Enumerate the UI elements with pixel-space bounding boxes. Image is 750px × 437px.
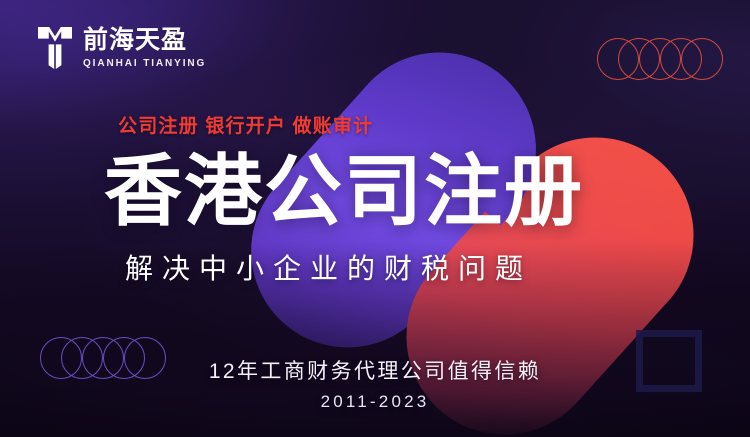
brand-logo: 前海天盈 QIANHAI TIANYING [38, 27, 206, 69]
hero-headline: 香港公司注册 [104, 152, 584, 230]
banner-canvas: 前海天盈 QIANHAI TIANYING 公司注册 银行开户 做账审计 香港公… [0, 0, 750, 437]
brand-name-cn: 前海天盈 [83, 27, 206, 53]
brand-name-en: QIANHAI TIANYING [83, 58, 206, 69]
hero-years: 2011-2023 [0, 392, 750, 412]
hero-kicker: 公司注册 银行开户 做账审计 [118, 111, 373, 138]
hero-subhead: 解决中小企业的财税问题 [125, 247, 532, 287]
hero-tagline: 12年工商财务代理公司值得信赖 [0, 355, 750, 385]
circle-outline [681, 38, 723, 80]
qianhai-tianying-y-mark-icon [38, 27, 72, 69]
brand-logo-text: 前海天盈 QIANHAI TIANYING [83, 27, 206, 68]
overlapping-circles-red-icon [597, 38, 702, 80]
